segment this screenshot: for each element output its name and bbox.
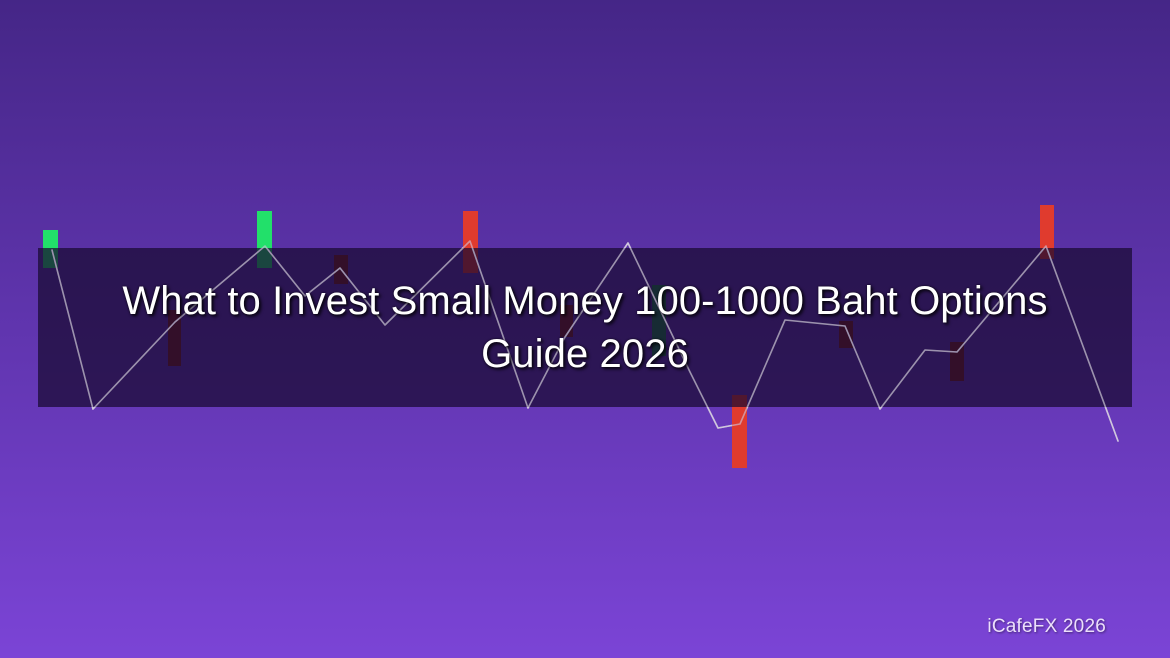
promo-banner: What to Invest Small Money 100-1000 Baht… <box>0 0 1170 658</box>
candle-bull-1-upper <box>43 230 58 248</box>
brand-watermark: iCafeFX 2026 <box>987 616 1106 638</box>
candle-bear-8-lower <box>732 407 747 468</box>
candle-group-over-band <box>43 205 1054 468</box>
price-line-path-overlay <box>52 241 1118 441</box>
candle-bear-11-upper <box>1040 205 1054 248</box>
candle-bull-3-upper <box>257 211 272 248</box>
candlestick-overlay-top <box>0 0 1170 658</box>
